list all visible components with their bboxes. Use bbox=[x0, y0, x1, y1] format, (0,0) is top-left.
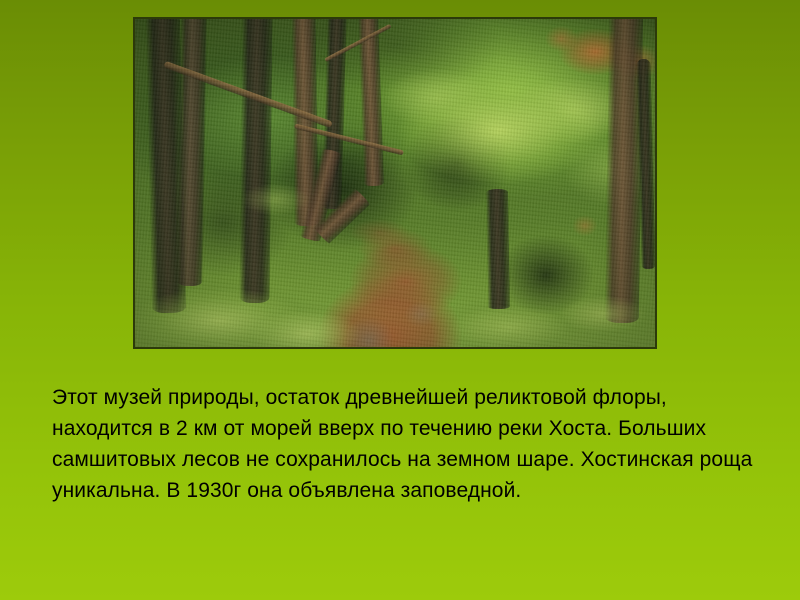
presentation-slide: Этот музей природы, остаток древнейшей р… bbox=[0, 0, 800, 600]
forest-photo-frame bbox=[133, 17, 657, 349]
slide-caption-text: Этот музей природы, остаток древнейшей р… bbox=[52, 382, 758, 506]
forest-photo bbox=[135, 19, 655, 347]
photo-vignette bbox=[135, 19, 655, 347]
